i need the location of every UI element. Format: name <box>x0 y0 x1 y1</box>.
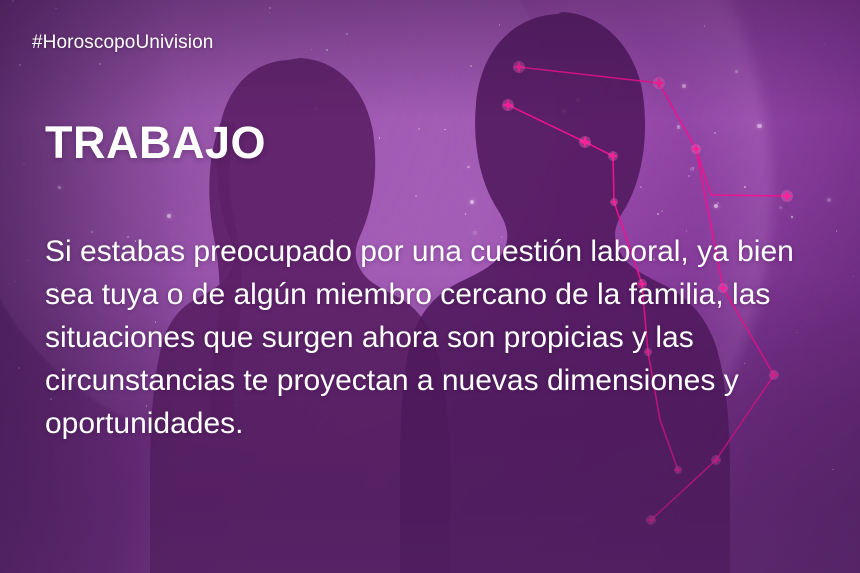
hashtag-label: #HoroscopoUnivision <box>32 32 213 54</box>
page-title: TRABAJO <box>45 120 266 165</box>
text-content: #HoroscopoUnivision TRABAJO Si estabas p… <box>0 0 860 573</box>
horoscope-card: #HoroscopoUnivision TRABAJO Si estabas p… <box>0 0 860 573</box>
horoscope-body-text: Si estabas preocupado por una cuestión l… <box>45 230 835 445</box>
